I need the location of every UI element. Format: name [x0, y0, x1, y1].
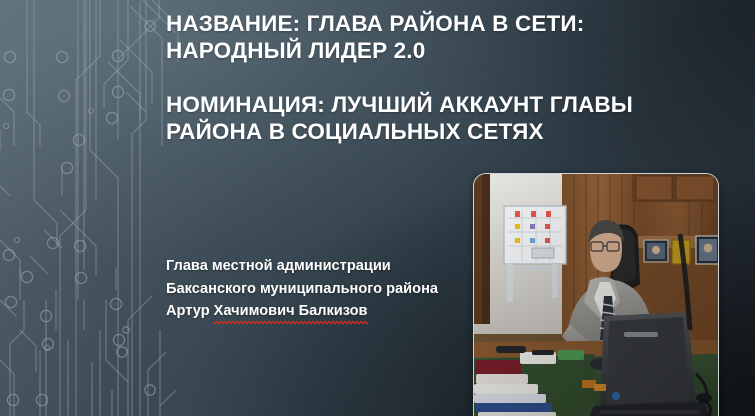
title-line-3: НОМИНАЦИЯ: ЛУЧШИЙ АККАУНТ ГЛАВЫ [166, 91, 706, 118]
circuit-board-decoration [0, 0, 185, 416]
title-line-4: РАЙОНА В СОЦИАЛЬНЫХ СЕТЯХ [166, 118, 706, 145]
person-name-misspelled: Хачимович Балкизов [214, 300, 368, 323]
slide-title-block[interactable]: НАЗВАНИЕ: ГЛАВА РАЙОНА В СЕТИ: НАРОДНЫЙ … [166, 10, 706, 145]
photo-office-scene [474, 174, 718, 416]
title-line-1: НАЗВАНИЕ: ГЛАВА РАЙОНА В СЕТИ: [166, 10, 706, 37]
slide-subtitle-block[interactable]: Глава местной администрации Баксанского … [166, 255, 496, 323]
title-spacer [166, 64, 706, 91]
person-photo[interactable] [473, 173, 719, 416]
title-line-2: НАРОДНЫЙ ЛИДЕР 2.0 [166, 37, 706, 64]
person-first-name: Артур [166, 303, 214, 319]
subtitle-line-position: Глава местной администрации [166, 255, 496, 278]
subtitle-line-name: Артур Хачимович Балкизов [166, 300, 496, 323]
subtitle-line-district: Баксанского муниципального района [166, 278, 496, 301]
presentation-slide: НАЗВАНИЕ: ГЛАВА РАЙОНА В СЕТИ: НАРОДНЫЙ … [0, 0, 755, 416]
